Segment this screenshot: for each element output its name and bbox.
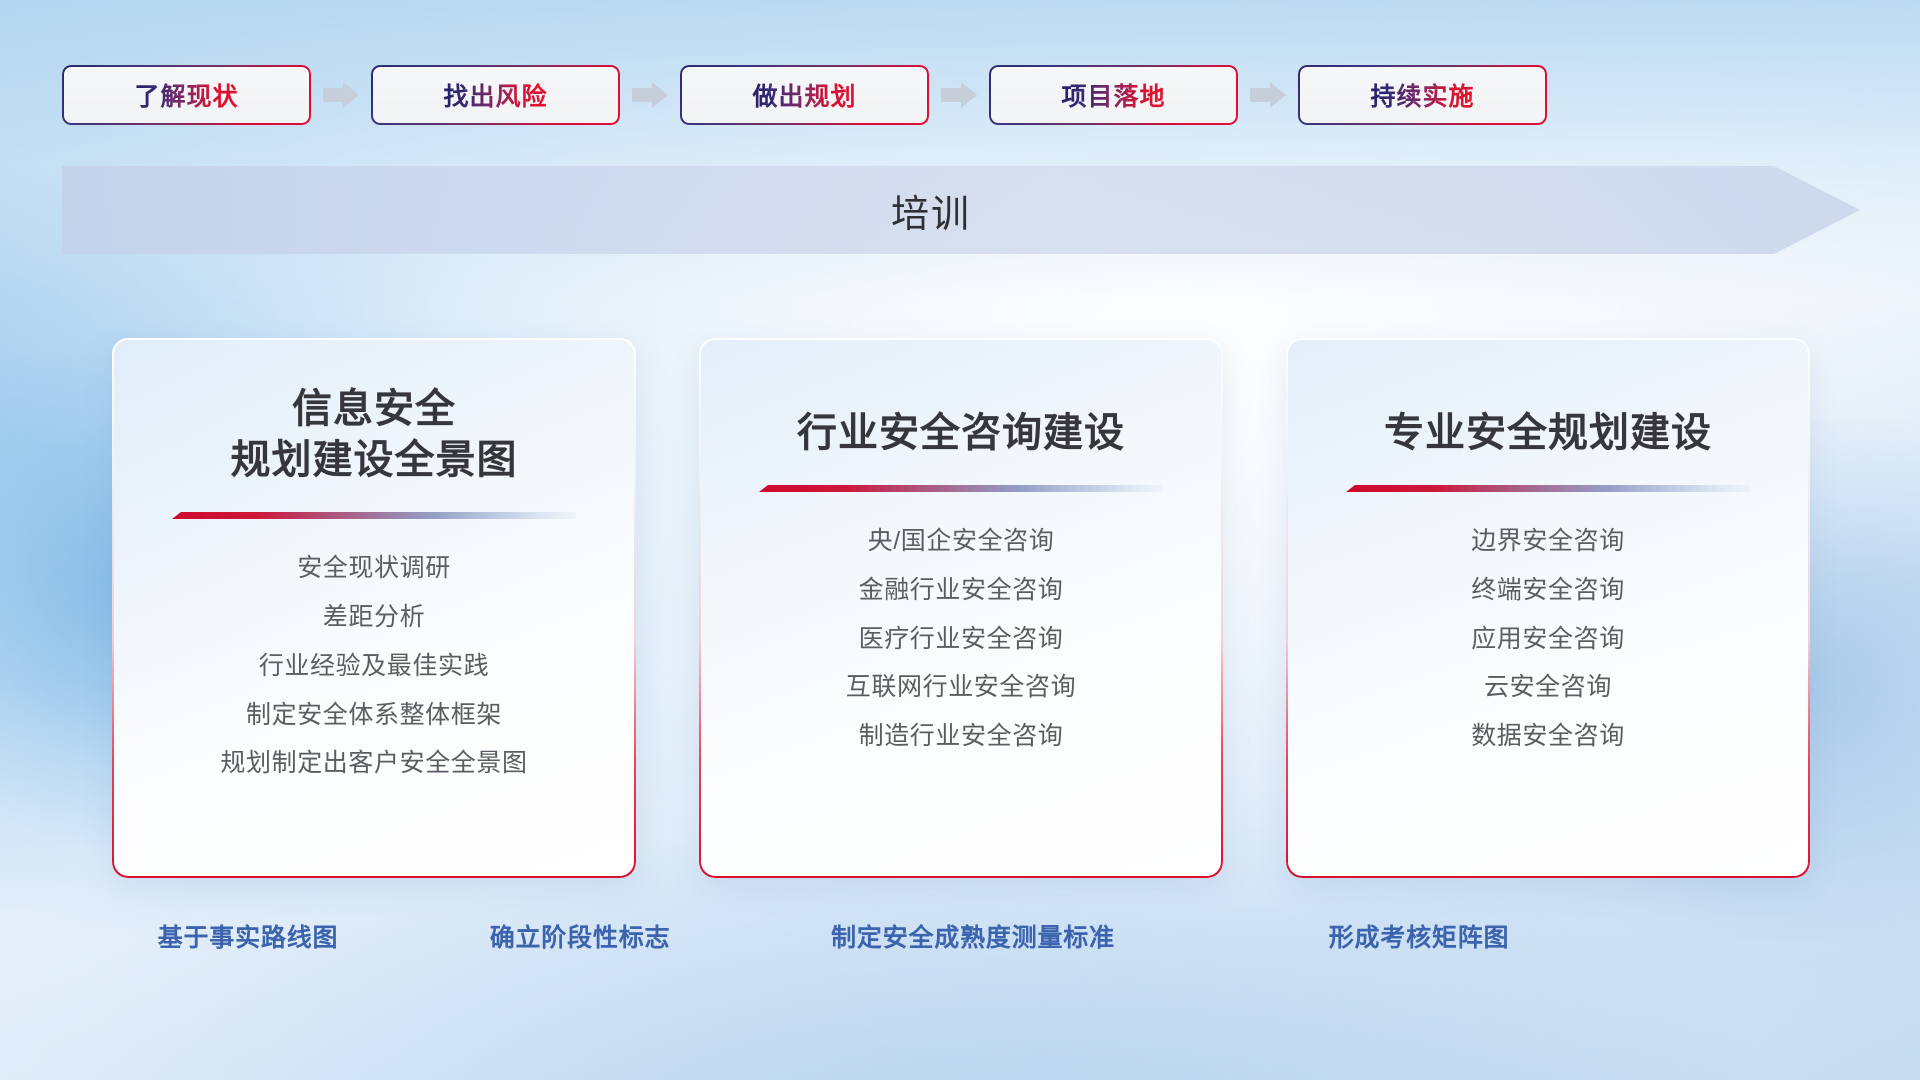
- chevron-right-arrow-icon: [941, 82, 977, 108]
- card-list-item[interactable]: 终端安全咨询: [1471, 571, 1625, 610]
- card-title: 行业安全咨询建设: [797, 408, 1125, 459]
- chevron-right-arrow-icon: [632, 82, 668, 108]
- card-title: 信息安全 规划建设全景图: [231, 384, 518, 486]
- card-inner: 行业安全咨询建设央/国企安全咨询金融行业安全咨询医疗行业安全咨询互联网行业安全咨…: [699, 338, 1223, 878]
- chevron-right-arrow-icon: [323, 82, 359, 108]
- service-card-3[interactable]: 专业安全规划建设边界安全咨询终端安全咨询应用安全咨询云安全咨询数据安全咨询: [1286, 338, 1810, 878]
- background-top-wash: [0, 0, 1920, 300]
- card-item-list: 央/国企安全咨询金融行业安全咨询医疗行业安全咨询互联网行业安全咨询制造行业安全咨…: [846, 522, 1076, 756]
- card-list-item[interactable]: 云安全咨询: [1484, 668, 1612, 707]
- step-label: 找出风险: [443, 77, 547, 113]
- card-list-item[interactable]: 央/国企安全咨询: [868, 522, 1055, 561]
- training-banner: 培训: [62, 166, 1860, 254]
- card-list-item[interactable]: 行业经验及最佳实践: [259, 647, 489, 686]
- card-list-item[interactable]: 金融行业安全咨询: [859, 571, 1064, 610]
- step-label: 了解现状: [134, 77, 238, 113]
- card-list-item[interactable]: 差距分析: [323, 598, 425, 637]
- card-divider: [172, 512, 576, 525]
- bottom-labels-row: 基于事实路线图确立阶段性标志制定安全成熟度测量标准形成考核矩阵图: [0, 918, 1920, 962]
- step-button-1[interactable]: 了解现状: [62, 65, 311, 125]
- card-title: 专业安全规划建设: [1384, 408, 1712, 459]
- card-list-item[interactable]: 应用安全咨询: [1471, 620, 1625, 659]
- card-item-list: 边界安全咨询终端安全咨询应用安全咨询云安全咨询数据安全咨询: [1471, 522, 1625, 756]
- cards-row: 信息安全 规划建设全景图安全现状调研差距分析行业经验及最佳实践制定安全体系整体框…: [112, 338, 1812, 878]
- banner-title: 培训: [62, 166, 1800, 254]
- step-button-5[interactable]: 持续实施: [1298, 65, 1547, 125]
- bottom-label-2: 确立阶段性标志: [490, 918, 671, 954]
- step-label: 持续实施: [1370, 77, 1474, 113]
- service-card-1[interactable]: 信息安全 规划建设全景图安全现状调研差距分析行业经验及最佳实践制定安全体系整体框…: [112, 338, 636, 878]
- bottom-label-3: 制定安全成熟度测量标准: [831, 918, 1115, 954]
- card-list-item[interactable]: 制定安全体系整体框架: [246, 696, 502, 735]
- step-button-2[interactable]: 找出风险: [371, 65, 620, 125]
- step-label: 做出规划: [752, 77, 856, 113]
- step-label: 项目落地: [1061, 77, 1165, 113]
- card-list-item[interactable]: 制造行业安全咨询: [859, 717, 1064, 756]
- card-list-item[interactable]: 数据安全咨询: [1471, 717, 1625, 756]
- chevron-right-arrow-icon: [1250, 82, 1286, 108]
- step-button-4[interactable]: 项目落地: [989, 65, 1238, 125]
- card-divider: [759, 485, 1163, 498]
- card-list-item[interactable]: 安全现状调研: [297, 549, 451, 588]
- card-inner: 专业安全规划建设边界安全咨询终端安全咨询应用安全咨询云安全咨询数据安全咨询: [1286, 338, 1810, 878]
- card-list-item[interactable]: 医疗行业安全咨询: [859, 620, 1064, 659]
- service-card-2[interactable]: 行业安全咨询建设央/国企安全咨询金融行业安全咨询医疗行业安全咨询互联网行业安全咨…: [699, 338, 1223, 878]
- bottom-label-4: 形成考核矩阵图: [1329, 918, 1510, 954]
- card-list-item[interactable]: 规划制定出客户安全全景图: [220, 744, 527, 783]
- process-steps-row: 了解现状找出风险做出规划项目落地持续实施: [62, 64, 1858, 126]
- step-button-3[interactable]: 做出规划: [680, 65, 929, 125]
- card-item-list: 安全现状调研差距分析行业经验及最佳实践制定安全体系整体框架规划制定出客户安全全景…: [220, 549, 527, 783]
- bottom-label-1: 基于事实路线图: [158, 918, 339, 954]
- card-list-item[interactable]: 边界安全咨询: [1471, 522, 1625, 561]
- card-divider: [1346, 485, 1750, 498]
- card-list-item[interactable]: 互联网行业安全咨询: [846, 668, 1076, 707]
- card-inner: 信息安全 规划建设全景图安全现状调研差距分析行业经验及最佳实践制定安全体系整体框…: [112, 338, 636, 878]
